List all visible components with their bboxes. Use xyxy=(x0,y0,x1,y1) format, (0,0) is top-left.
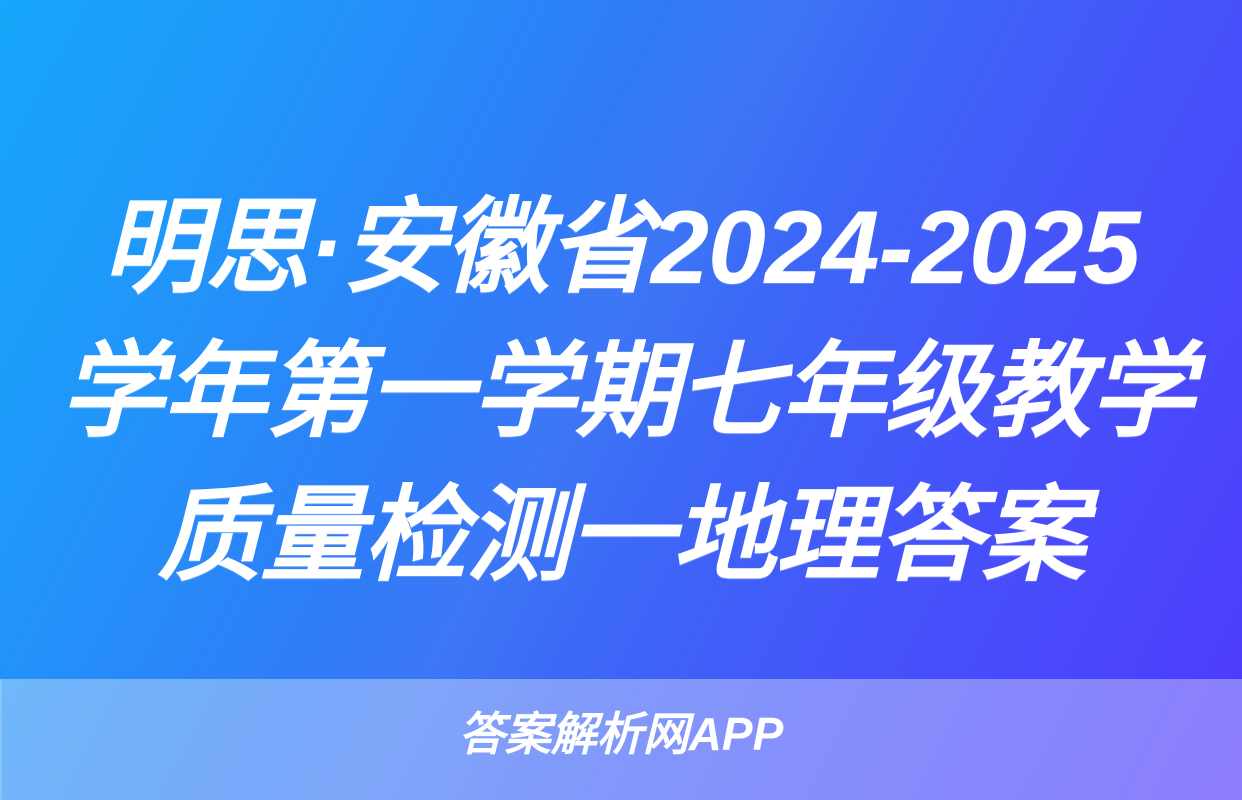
page-title: 明思·安徽省2024-2025 学年第一学期七年级教学 质量检测一地理答案 xyxy=(0,176,1242,608)
title-line-2: 学年第一学期七年级教学 xyxy=(60,320,1182,464)
title-line-3: 质量检测一地理答案 xyxy=(60,464,1182,608)
footer-brand-watermark: 答案解析网APP xyxy=(0,703,1242,765)
cover-card: 明思·安徽省2024-2025 学年第一学期七年级教学 质量检测一地理答案 答案… xyxy=(0,0,1242,800)
title-line-1: 明思·安徽省2024-2025 xyxy=(60,176,1182,320)
